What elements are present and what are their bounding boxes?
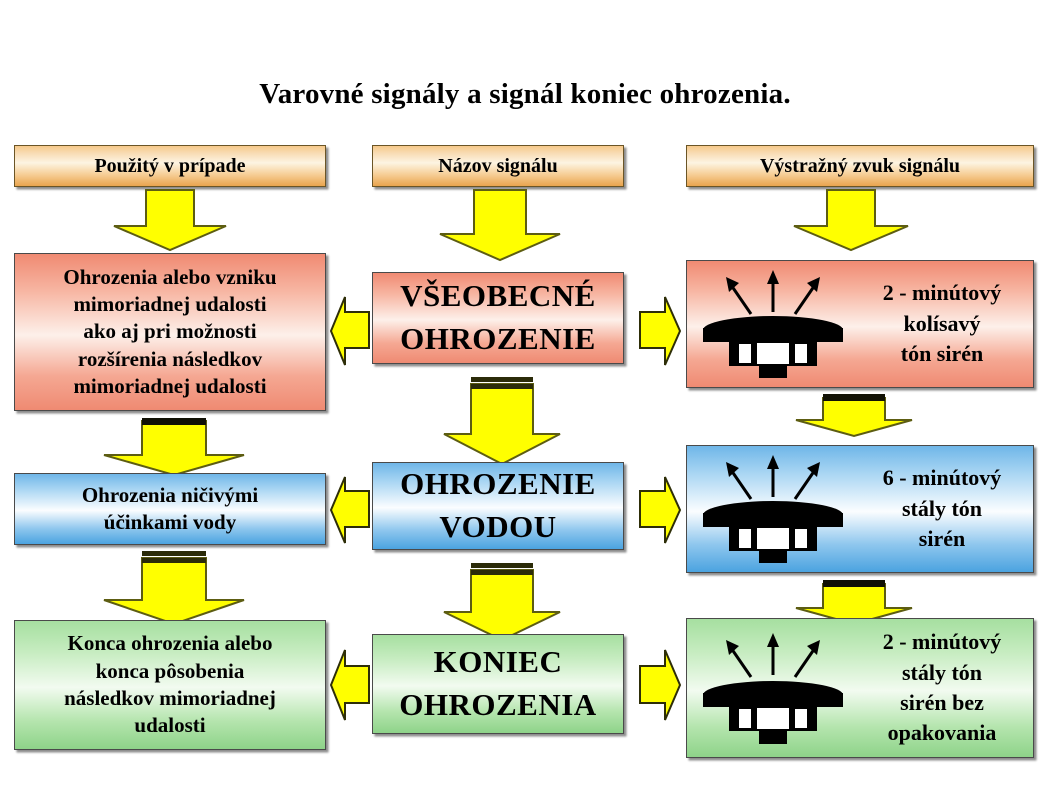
diagram-canvas: Varovné signály a signál koniec ohrozeni… [0,0,1050,788]
header-label-condition: Použitý v prípade [88,153,251,179]
condition-line: mimoriadnej udalosti [73,374,266,398]
header-label-sound: Výstražný zvuk signálu [754,153,966,179]
condition-text-koniec-ohrozenia: Konca ohrozenia alebo konca pôsobenia ná… [58,630,282,739]
sound-line: sirén [919,526,965,551]
header-label-signal-name: Názov signálu [432,153,563,179]
condition-line: účinkami vody [104,510,236,534]
condition-box-koniec-ohrozenia: Konca ohrozenia alebo konca pôsobenia ná… [14,620,326,750]
left-arrow-koniec-ohrozenia [329,648,371,722]
signal-name-line: VŠEOBECNÉ [400,278,596,313]
down-arrow-sound-row1-row2 [792,392,916,438]
sound-text-koniec-ohrozenia: 2 - minútový stály tón sirén bez opakova… [859,627,1033,748]
down-arrow-condition-row1-row2 [100,415,248,477]
condition-line: ako aj pri možnosti [83,319,256,343]
down-arrow-header-signal-name [436,190,564,262]
condition-line: konca pôsobenia [96,659,245,683]
sound-line: 2 - minútový [883,629,1002,654]
signal-name-text-koniec-ohrozenia: KONIEC OHROZENIA [393,641,602,727]
condition-line: Ohrozenia ničivými [82,483,258,507]
siren-icon [687,619,859,757]
sound-line: stály tón [902,496,982,521]
sound-box-ohrozenie-vodou: 6 - minútový stály tón sirén [686,445,1034,573]
condition-line: Konca ohrozenia alebo [68,631,273,655]
down-arrow-condition-row2-row3 [100,548,248,626]
condition-line: udalosti [134,713,205,737]
signal-name-line: KONIEC [434,644,563,679]
condition-line: rozšírenia následkov [78,347,262,371]
sound-line: tón sirén [901,341,984,366]
signal-name-box-koniec-ohrozenia: KONIEC OHROZENIA [372,634,624,734]
condition-line: mimoriadnej udalosti [73,292,266,316]
signal-name-line: OHROZENIE [400,321,596,356]
down-arrow-header-condition [110,190,230,252]
right-arrow-ohrozenie-vodou [637,475,683,545]
down-arrow-header-sound [790,190,912,252]
condition-text-ohrozenie-vodou: Ohrozenia ničivými účinkami vody [76,482,264,537]
condition-line: následkov mimoriadnej [64,686,276,710]
condition-box-vseobecne-ohrozenie: Ohrozenia alebo vzniku mimoriadnej udalo… [14,253,326,411]
header-box-sound: Výstražný zvuk signálu [686,145,1034,187]
sound-line: stály tón [902,660,982,685]
header-box-condition: Použitý v prípade [14,145,326,187]
signal-name-text-ohrozenie-vodou: OHROZENIE VODOU [394,463,602,549]
sound-inner-vseobecne-ohrozenie: 2 - minútový kolísavý tón sirén [687,261,1033,387]
sound-inner-koniec-ohrozenia: 2 - minútový stály tón sirén bez opakova… [687,619,1033,757]
siren-icon [687,261,859,387]
left-arrow-vseobecne-ohrozenie [329,295,371,367]
sound-line: sirén bez [900,690,984,715]
sound-box-koniec-ohrozenia: 2 - minútový stály tón sirén bez opakova… [686,618,1034,758]
signal-name-text-vseobecne-ohrozenie: VŠEOBECNÉ OHROZENIE [394,275,602,361]
down-arrow-signal-name-row1-row2 [440,374,564,466]
header-box-signal-name: Názov signálu [372,145,624,187]
right-arrow-koniec-ohrozenia [637,648,683,722]
sound-text-ohrozenie-vodou: 6 - minútový stály tón sirén [859,463,1033,554]
signal-name-line: OHROZENIE [400,466,596,501]
sound-line: opakovania [888,720,997,745]
signal-name-line: VODOU [439,509,556,544]
signal-name-line: OHROZENIA [399,687,596,722]
sound-inner-ohrozenie-vodou: 6 - minútový stály tón sirén [687,446,1033,572]
down-arrow-signal-name-row2-row3 [440,560,564,642]
sound-box-vseobecne-ohrozenie: 2 - minútový kolísavý tón sirén [686,260,1034,388]
condition-box-ohrozenie-vodou: Ohrozenia ničivými účinkami vody [14,473,326,545]
signal-name-box-vseobecne-ohrozenie: VŠEOBECNÉ OHROZENIE [372,272,624,364]
left-arrow-ohrozenie-vodou [329,475,371,545]
sound-text-vseobecne-ohrozenie: 2 - minútový kolísavý tón sirén [859,278,1033,369]
sound-line: 2 - minútový [883,280,1002,305]
condition-text-vseobecne-ohrozenie: Ohrozenia alebo vzniku mimoriadnej udalo… [57,264,282,400]
right-arrow-vseobecne-ohrozenie [637,295,683,367]
signal-name-box-ohrozenie-vodou: OHROZENIE VODOU [372,462,624,550]
page-title: Varovné signály a signál koniec ohrozeni… [0,78,1050,111]
sound-line: kolísavý [903,311,980,336]
condition-line: Ohrozenia alebo vzniku [63,265,276,289]
siren-icon [687,446,859,572]
sound-line: 6 - minútový [883,465,1002,490]
